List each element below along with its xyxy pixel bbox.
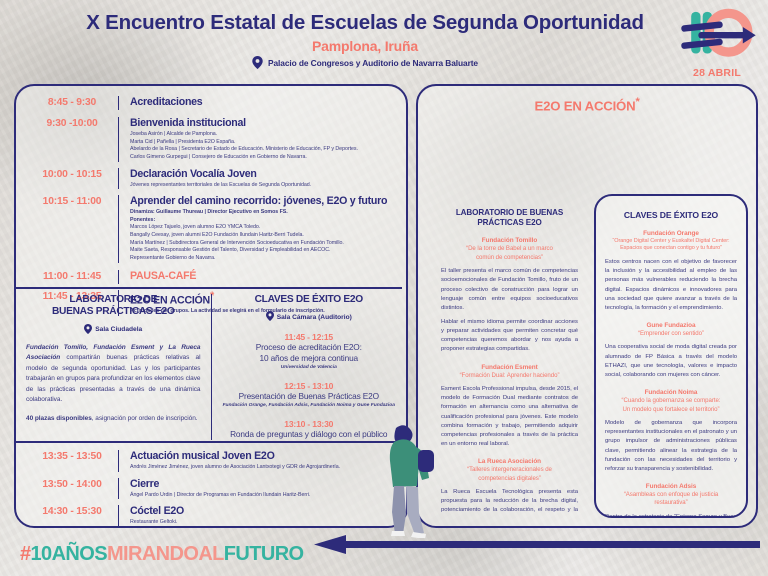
- claves-item-note: Fundación Orange, Fundación Adsis, Funda…: [222, 403, 397, 410]
- schedule-time: 10:00 - 10:15: [26, 168, 118, 180]
- schedule-title: Bienvenida institucional: [130, 117, 392, 130]
- right-panel-title: E2O EN ACCIÓN*: [418, 96, 756, 113]
- claves-item-desc2: 10 años de mejora continua: [222, 353, 397, 364]
- right-claves-entry: Fundación Orange “Orange Digital Center …: [596, 230, 746, 313]
- laboratorio-location: Sala Ciudadela: [26, 324, 201, 336]
- e2o-en-accion-panel: E2O EN ACCIÓN* LABORATORIO DE BUENAS PRÁ…: [416, 84, 758, 528]
- schedule-title: Acreditaciones: [130, 96, 392, 109]
- laboratorio-location-text: Sala Ciudadela: [95, 326, 142, 333]
- right-claves-block: CLAVES DE ÉXITO E2O Fundación Orange “Or…: [594, 194, 748, 518]
- schedule-title: Cóctel E2O: [130, 505, 392, 518]
- laboratorio-paragraph-2: 40 plazas disponibles, asignación por or…: [26, 414, 201, 425]
- schedule-time: 8:45 - 9:30: [26, 96, 118, 108]
- claves-column: CLAVES DE ÉXITO E2O Sala Cámara (Auditor…: [212, 294, 407, 440]
- schedule-title: Actuación musical Joven E2O: [130, 450, 392, 463]
- right-claves-entry: Fundación Adsis “Asambleas con enfoque d…: [596, 483, 746, 518]
- claves-item-desc: Presentación de Buenas Prácticas E2O: [222, 391, 397, 402]
- entity-quote: “Emprender con sentido”: [596, 330, 746, 339]
- asterisk-marker: *: [635, 96, 639, 108]
- entity-paragraph: El taller presenta el marco común de com…: [432, 267, 587, 313]
- schedule-time: 10:15 - 11:00: [26, 195, 118, 207]
- entity-name: Gune Fundazioa: [596, 322, 746, 329]
- section-divider: [16, 287, 402, 289]
- entity-quote: “Orange Digital Center y Euskaltel Digit…: [596, 238, 746, 253]
- hashtag-part-1: 10AÑOS: [31, 543, 107, 565]
- claves-item-time: 11:45 - 12:15: [222, 332, 397, 342]
- walking-person-illustration: [366, 420, 438, 538]
- schedule-desc: Ángel Pardo Urdin | Director de Programa…: [130, 492, 392, 500]
- entity-quote: “Formación Dual: Aprender haciendo”: [432, 372, 587, 381]
- entity-quote: “Talleres intergeneracionales de compete…: [432, 466, 587, 483]
- schedule-row: 9:30 -10:00 Bienvenida institucional Jos…: [16, 117, 406, 162]
- schedule-desc: Jóvenes representantes territoriales de …: [130, 182, 392, 190]
- schedule-time: 11:00 - 11:45: [26, 270, 118, 282]
- entity-name: Fundación Adsis: [596, 483, 746, 490]
- schedule-desc: Andrés Jiménez Jiménez, joven alumno de …: [130, 464, 392, 472]
- entity-paragraph: Una cooperativa social de moda digital c…: [596, 343, 746, 380]
- entity-name: La Rueca Asociación: [432, 458, 587, 465]
- schedule-row: 13:50 - 14:00 Cierre Ángel Pardo Urdin |…: [16, 478, 406, 500]
- logo-date: 28 ABRIL: [674, 67, 760, 79]
- entity-quote: “Asambleas con enfoque de justicia resta…: [596, 491, 746, 508]
- right-claves-entry: Fundación Noima “Cuando la gobernanza se…: [596, 389, 746, 474]
- location-pin-icon: [84, 324, 92, 336]
- location-pin-icon: [266, 311, 274, 323]
- claves-item: 11:45 - 12:15 Proceso de acreditación E2…: [222, 332, 397, 372]
- schedule-time: 14:30 - 15:30: [26, 505, 118, 517]
- schedule-time: 9:30 -10:00: [26, 117, 118, 129]
- claves-item: 12:15 - 13:10 Presentación de Buenas Prá…: [222, 381, 397, 410]
- schedule-row: 10:00 - 10:15 Declaración Vocalía Joven …: [16, 168, 406, 190]
- laboratorio-column: LABORATORIO DE BUENAS PRÁCTICAS E2O Sala…: [16, 294, 212, 440]
- entity-name: Fundación Orange: [596, 230, 746, 237]
- anniversary-logo: 28 ABRIL: [674, 6, 760, 80]
- entity-quote: “Cuando la gobernanza se comparte: Un mo…: [596, 397, 746, 414]
- schedule-row: 13:35 - 13:50 Actuación musical Joven E2…: [16, 450, 406, 472]
- entity-paragraph: Hablar el mismo idioma permite coordinar…: [432, 318, 587, 355]
- entity-paragraph: Esment Escola Professional impulsa, desd…: [432, 385, 587, 449]
- laboratorio-paragraph-1: Fundación Tomillo, Fundación Esment y La…: [26, 343, 201, 406]
- claves-heading: CLAVES DE ÉXITO E2O: [222, 294, 397, 306]
- venue-text: Palacio de Congresos y Auditorio de Nava…: [268, 58, 478, 68]
- schedule-row: 8:45 - 9:30 Acreditaciones: [16, 96, 406, 110]
- page-subtitle: Pamplona, Iruña: [60, 38, 670, 54]
- entity-paragraph: Dentro de la estrategia de “Entorno Segu…: [596, 513, 746, 518]
- page-title: X Encuentro Estatal de Escuelas de Segun…: [60, 12, 670, 34]
- claves-item-time: 12:15 - 13:10: [222, 381, 397, 391]
- claves-location: Sala Cámara (Auditorio): [222, 311, 397, 323]
- section-divider: [16, 441, 402, 443]
- schedule-title: PAUSA-CAFÉ: [130, 270, 392, 283]
- schedule-time: 13:50 - 14:00: [26, 478, 118, 490]
- right-claves-entry: Gune Fundazioa “Emprender con sentido” U…: [596, 322, 746, 380]
- right-panel-title-text: E2O EN ACCIÓN: [534, 98, 635, 113]
- hashtag-slogan: #10AÑOSMIRANDOALFUTURO: [20, 543, 304, 566]
- hashtag-part-2: MIRANDOAL: [107, 543, 224, 565]
- right-lab-entry: La Rueca Asociación “Talleres intergener…: [432, 458, 587, 514]
- entity-paragraph: Modelo de gobernanza que incorpora repre…: [596, 419, 746, 474]
- entity-name: Fundación Esment: [432, 364, 587, 371]
- schedule-time: 13:35 - 13:50: [26, 450, 118, 462]
- schedule-title: Aprender del camino recorrido: jóvenes, …: [130, 195, 392, 208]
- right-lab-entry: Fundación Esment “Formación Dual: Aprend…: [432, 364, 587, 450]
- right-laboratorio-block: LABORATORIO DE BUENAS PRÁCTICAS E2O Fund…: [432, 194, 587, 514]
- claves-item-desc: Proceso de acreditación E2O:: [222, 342, 397, 353]
- venue-row: Palacio de Congresos y Auditorio de Nava…: [60, 56, 670, 69]
- right-claves-heading: CLAVES DE ÉXITO E2O: [596, 196, 746, 221]
- right-lab-entry: Fundación Tomillo “De la torre de Babel …: [432, 237, 587, 354]
- claves-location-text: Sala Cámara (Auditorio): [277, 314, 352, 321]
- right-laboratorio-heading: LABORATORIO DE BUENAS PRÁCTICAS E2O: [432, 194, 587, 228]
- schedule-panel: 8:45 - 9:30 Acreditaciones 9:30 -10:00 B…: [14, 84, 408, 528]
- entity-name: Fundación Noima: [596, 389, 746, 396]
- schedule-desc: Dinamiza: Guillaume Thureau | Director E…: [130, 209, 392, 263]
- entity-quote: “De la torre de Babel a un marco común d…: [432, 245, 587, 262]
- poster-footer: #10AÑOSMIRANDOALFUTURO: [0, 524, 768, 576]
- entity-paragraph: La Rueca Escuela Tecnológica presenta es…: [432, 488, 587, 514]
- schedule-title: Cierre: [130, 478, 392, 491]
- left-arrow-icon: [300, 534, 760, 556]
- hashtag-symbol: #: [20, 543, 31, 565]
- schedule-row: 11:00 - 11:45 PAUSA-CAFÉ: [16, 270, 406, 284]
- schedule-desc: Joseba Asirón | Alcalde de Pamplona. Mar…: [130, 131, 392, 162]
- entity-name: Fundación Tomillo: [432, 237, 587, 244]
- schedule-row: 10:15 - 11:00 Aprender del camino recorr…: [16, 195, 406, 263]
- claves-item-note: Universidad de Valencia: [222, 365, 397, 372]
- laboratorio-heading: LABORATORIO DE BUENAS PRÁCTICAS E2O: [26, 294, 201, 319]
- hashtag-part-3: FUTURO: [224, 543, 304, 565]
- location-pin-icon: [252, 56, 263, 69]
- entity-paragraph: Estos centros nacen con el objetivo de f…: [596, 258, 746, 313]
- poster-header: X Encuentro Estatal de Escuelas de Segun…: [0, 0, 768, 84]
- schedule-title: Declaración Vocalía Joven: [130, 168, 392, 181]
